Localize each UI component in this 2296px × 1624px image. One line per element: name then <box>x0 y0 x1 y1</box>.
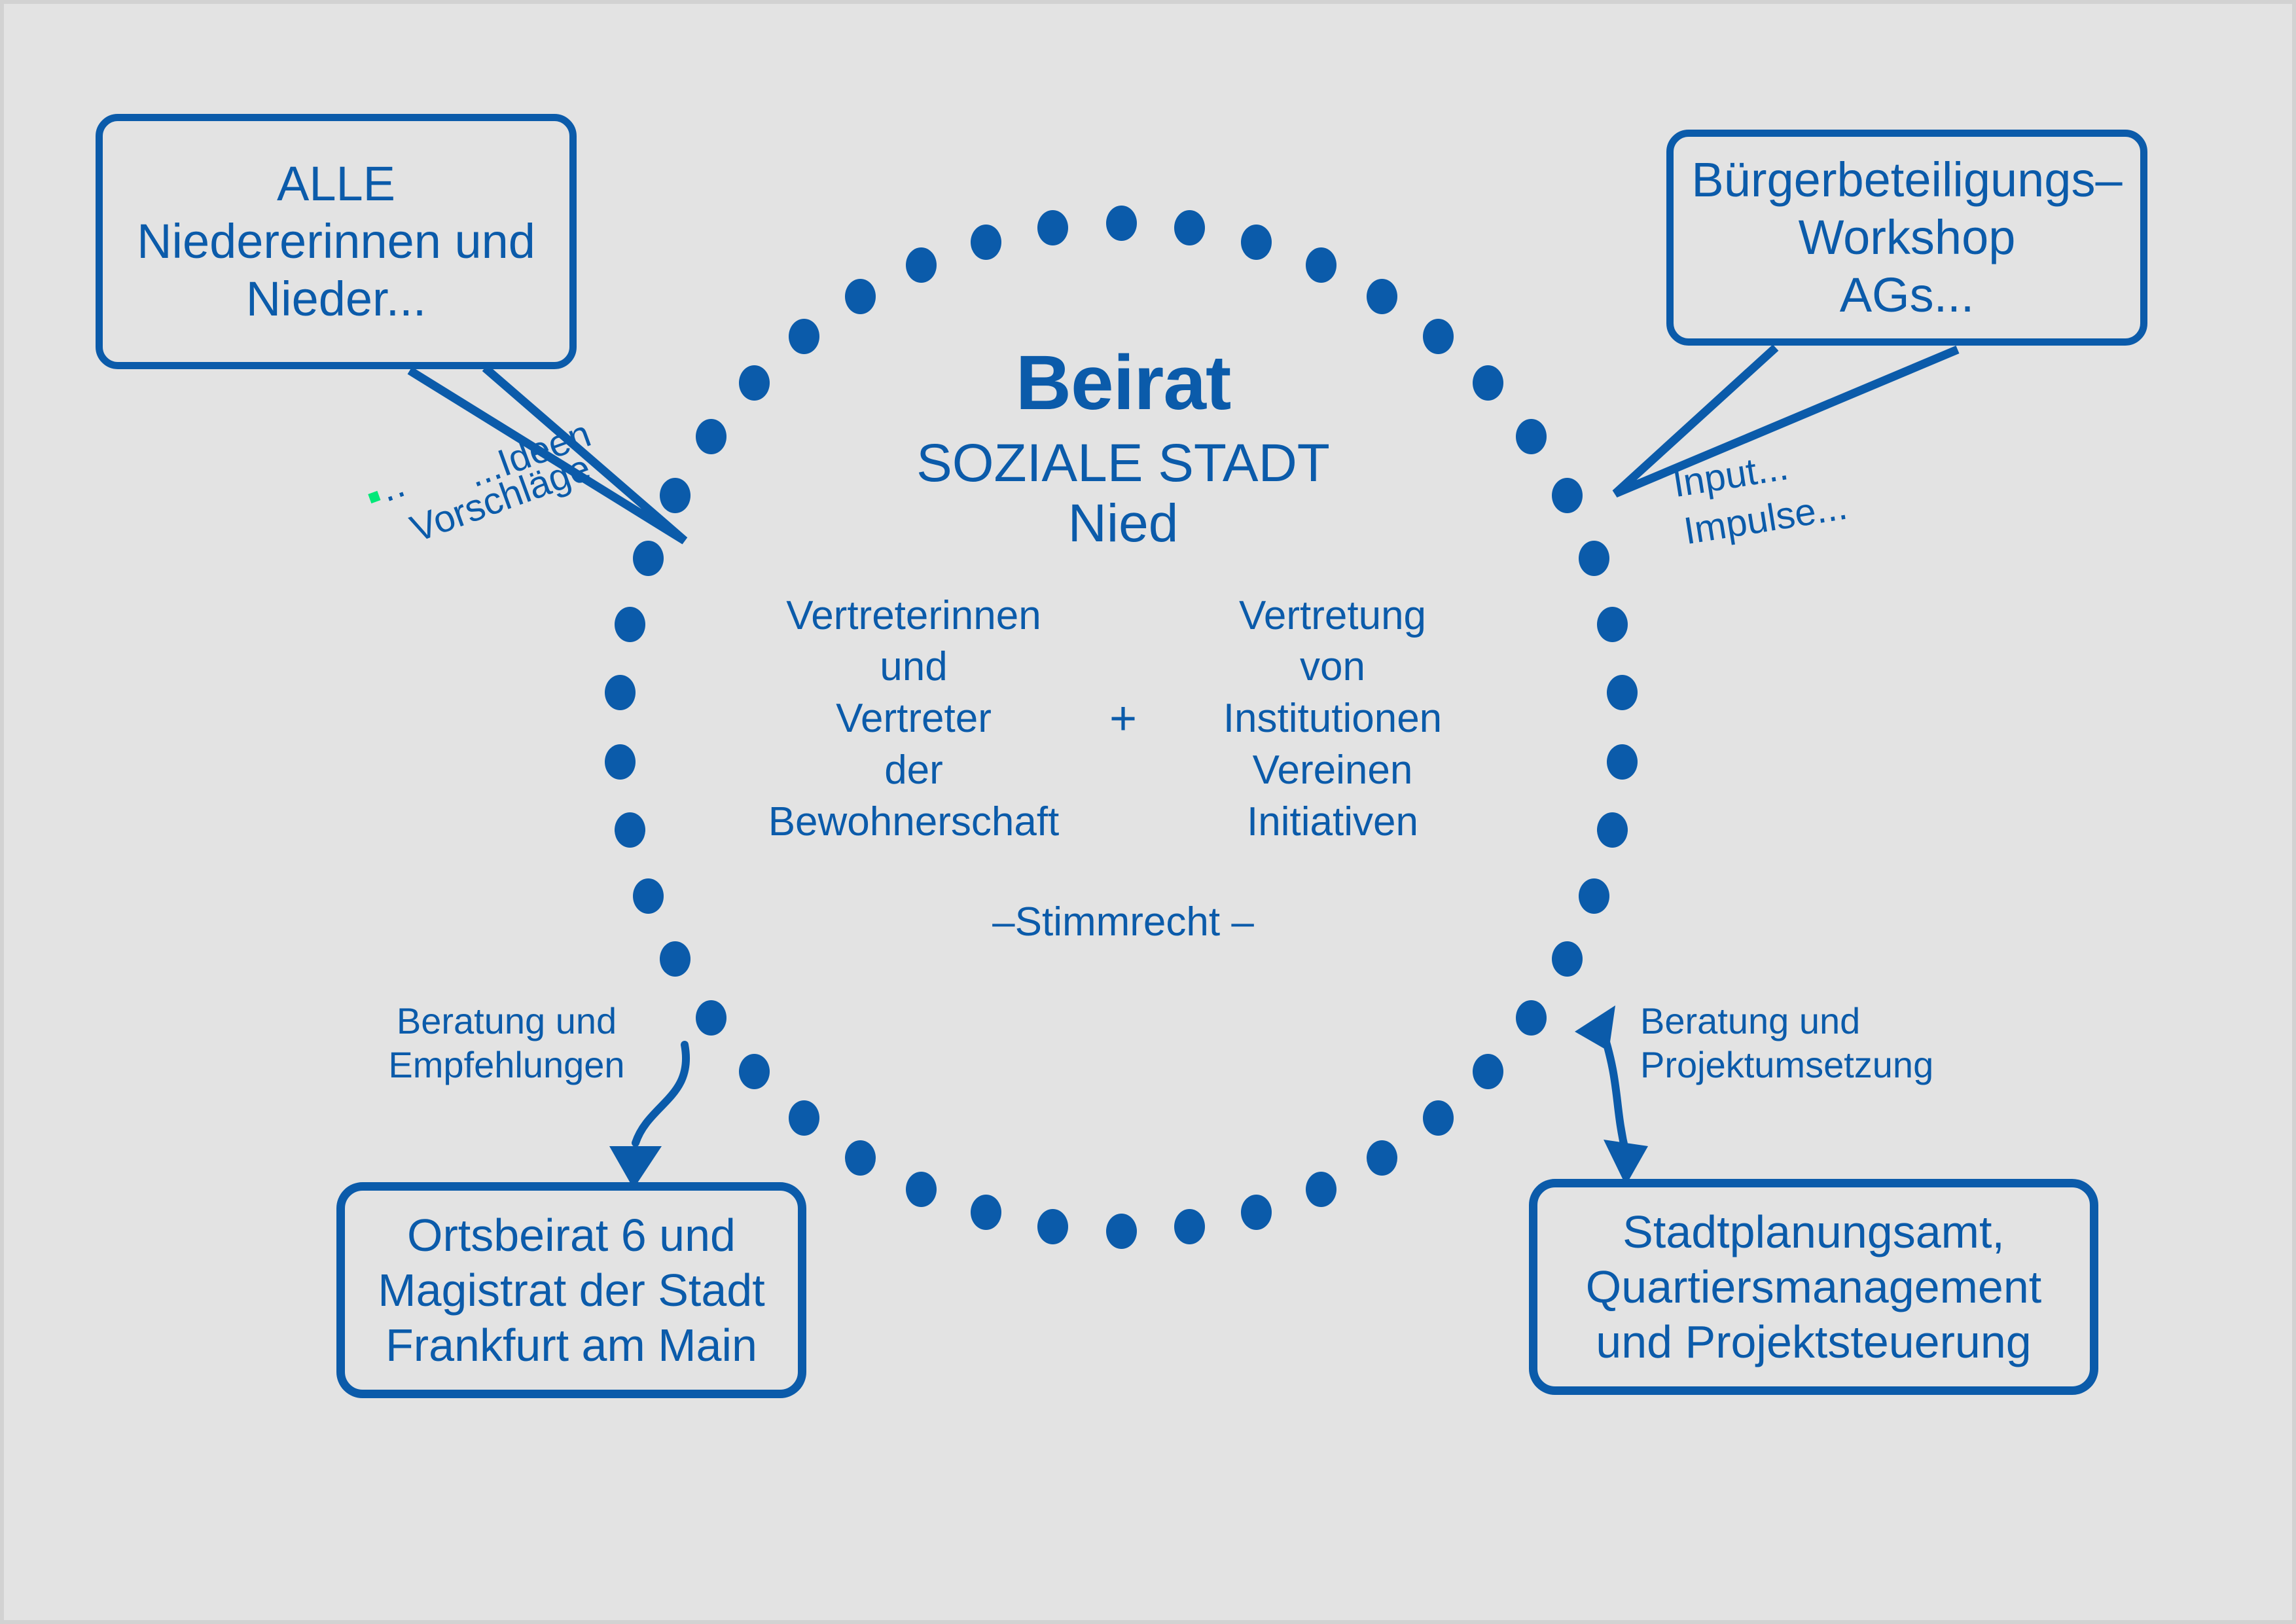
beratung-right-line2: Projektumsetzung <box>1640 1043 1954 1087</box>
box-ortsbeirat-line2: Magistrat der Stadt <box>378 1263 764 1318</box>
box-stadtplanung-line1: Stadtplanungsamt, <box>1623 1204 2005 1259</box>
column-right-line-2: Institutionen <box>1159 693 1506 745</box>
column-left-line-4: Bewohnerschaft <box>740 797 1087 848</box>
bubble-workshop-line3: AGs... <box>1840 266 1975 324</box>
bubble-alle-line2: Niedererinnen und <box>137 213 535 270</box>
arrowhead-right-up <box>1575 1005 1615 1051</box>
label-beratung-empfehlungen: Beratung und Empfehlungen <box>376 999 637 1087</box>
box-stadtplanung-line2: Quartiersmanagement <box>1586 1259 2041 1314</box>
box-stadtplanung-line3: und Projektsteuerung <box>1596 1314 2031 1369</box>
label-beratung-projektumsetzung: Beratung und Projektumsetzung <box>1640 999 1954 1087</box>
box-ortsbeirat[interactable]: Ortsbeirat 6 und Magistrat der Stadt Fra… <box>336 1182 806 1398</box>
column-right-line-4: Initiativen <box>1159 797 1506 848</box>
center-column-right: Vertretung von Institutionen Vereinen In… <box>1159 590 1506 848</box>
bubble-workshop-line1: Bürgerbeteiligungs– <box>1691 151 2122 209</box>
diagram-canvas: ALLE Niedererinnen und Nieder... Bürgerb… <box>0 0 2296 1624</box>
beratung-right-line1: Beratung und <box>1640 999 1954 1043</box>
arrow-left-down <box>636 1045 686 1143</box>
box-stadtplanungsamt[interactable]: Stadtplanungsamt, Quartiersmanagement un… <box>1529 1179 2098 1395</box>
center-subtitle-line2: Nied <box>694 494 1552 554</box>
column-left-line-1: und <box>740 641 1087 693</box>
center-content: Beirat SOZIALE STADT Nied Vertreterinnen… <box>694 344 1552 945</box>
column-right-line-1: von <box>1159 641 1506 693</box>
box-ortsbeirat-line1: Ortsbeirat 6 und <box>407 1208 736 1263</box>
beratung-left-line1: Beratung und <box>376 999 637 1043</box>
column-right-line-0: Vertretung <box>1159 590 1506 642</box>
bubble-alle-line1: ALLE <box>277 155 395 213</box>
beratung-left-line2: Empfehlungen <box>376 1043 637 1087</box>
center-columns: Vertreterinnen und Vertreter der Bewohne… <box>694 590 1552 848</box>
plus-sign: + <box>1087 692 1159 746</box>
speech-bubble-workshop[interactable]: Bürgerbeteiligungs– Workshop AGs... <box>1666 130 2147 346</box>
column-left-line-0: Vertreterinnen <box>740 590 1087 642</box>
box-ortsbeirat-line3: Frankfurt am Main <box>386 1318 757 1373</box>
center-subtitle-line1: SOZIALE STADT <box>694 433 1552 494</box>
bubble-workshop-line2: Workshop <box>1799 209 2016 266</box>
stimmrecht-label: –Stimmrecht – <box>694 899 1552 945</box>
column-right-line-3: Vereinen <box>1159 745 1506 797</box>
speech-bubble-alle[interactable]: ALLE Niedererinnen und Nieder... <box>96 114 577 369</box>
page-title: Beirat <box>694 344 1552 422</box>
bubble-alle-line3: Nieder... <box>246 270 427 328</box>
center-column-left: Vertreterinnen und Vertreter der Bewohne… <box>740 590 1087 848</box>
column-left-line-2: Vertreter <box>740 693 1087 745</box>
column-left-line-3: der <box>740 745 1087 797</box>
